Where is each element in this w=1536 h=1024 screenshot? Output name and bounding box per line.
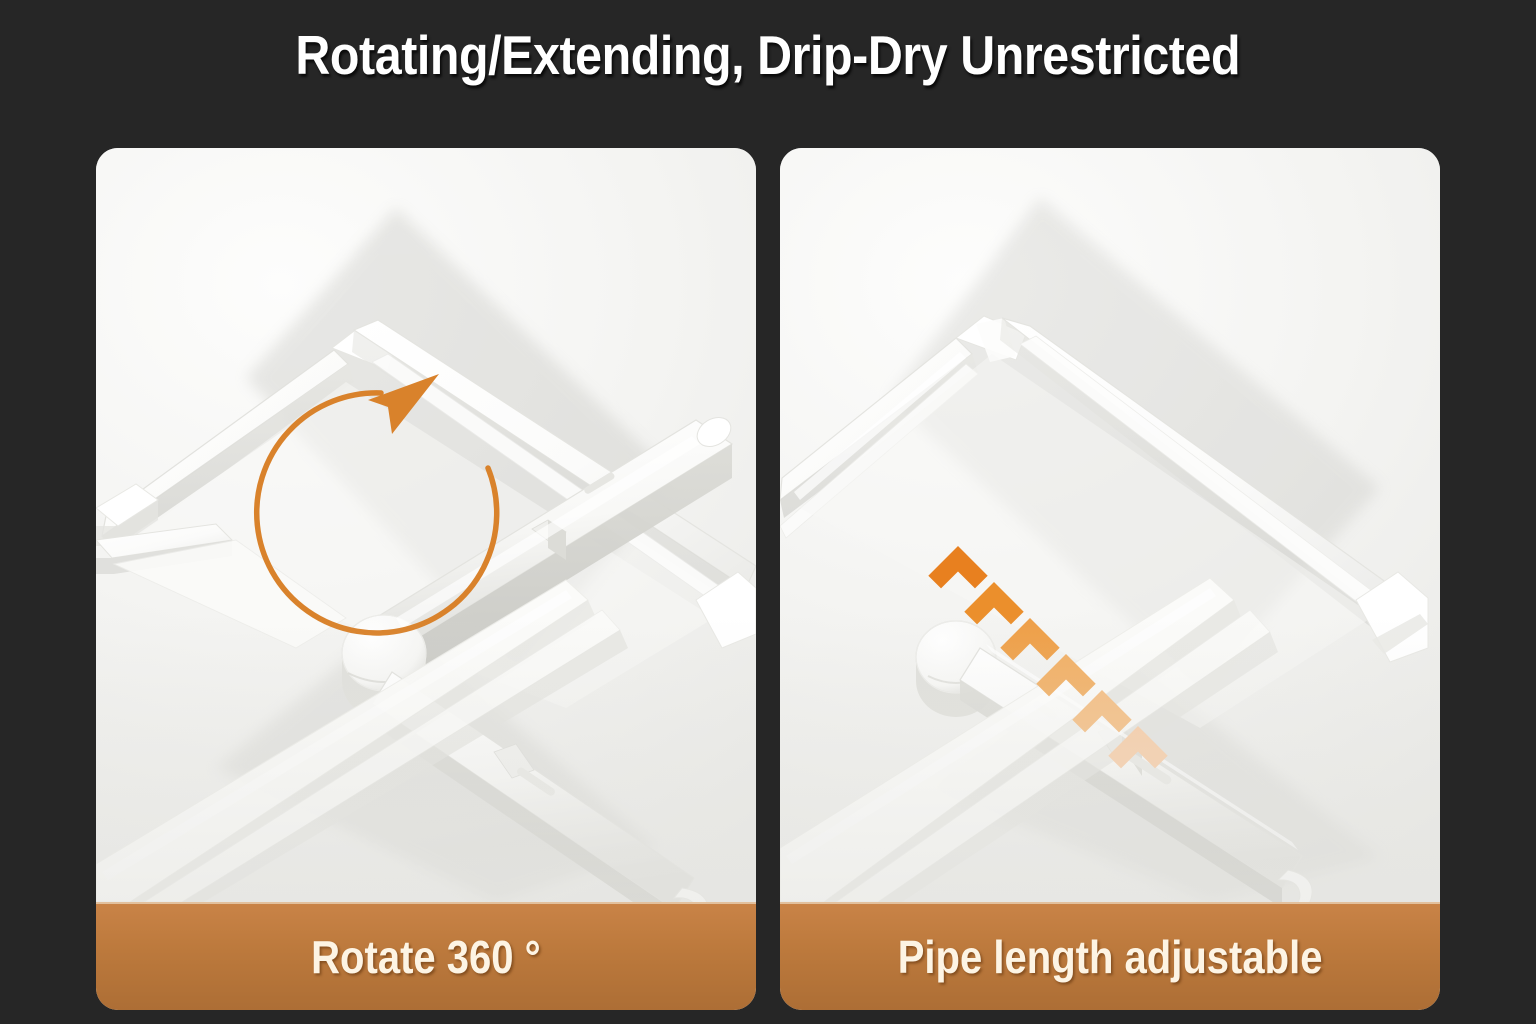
product-photo-rotate <box>96 148 756 902</box>
rotation-arrow-icon <box>96 148 756 902</box>
caption-label: Rotate 360 ° <box>311 930 541 984</box>
product-illustration-rotate <box>96 148 756 902</box>
caption-label: Pipe length adjustable <box>898 930 1323 984</box>
product-illustration-extend <box>780 148 1440 902</box>
feature-card-rotate[interactable]: Rotate 360 ° <box>96 148 756 1010</box>
feature-panels: Rotate 360 ° <box>0 148 1536 1010</box>
caption-bar-rotate: Rotate 360 ° <box>96 902 756 1010</box>
title-bar: Rotating/Extending, Drip-Dry Unrestricte… <box>0 0 1536 110</box>
chevron-arrows-icon <box>780 148 1440 902</box>
page-title: Rotating/Extending, Drip-Dry Unrestricte… <box>296 23 1241 87</box>
feature-card-extend[interactable]: Pipe length adjustable <box>780 148 1440 1010</box>
caption-bar-extend: Pipe length adjustable <box>780 902 1440 1010</box>
product-photo-extend <box>780 148 1440 902</box>
